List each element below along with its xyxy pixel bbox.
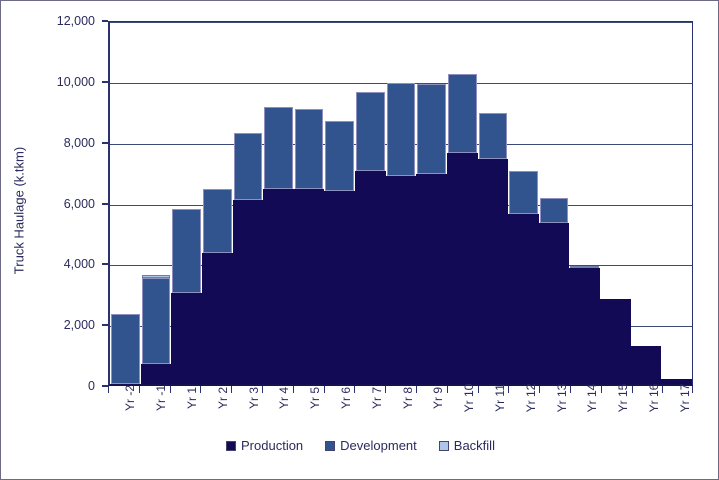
bar-segment-production[interactable] (263, 189, 294, 384)
x-axis-tick-mark (231, 386, 232, 393)
y-axis-tick-label: 0 (88, 379, 95, 393)
bar-segment-production[interactable] (447, 153, 478, 384)
bar-segment-development[interactable] (295, 109, 324, 190)
x-axis-tick-mark (539, 386, 540, 393)
x-axis-tick-label: Yr 10 (462, 384, 476, 413)
bar-segment-development[interactable] (417, 84, 446, 174)
x-axis-tick-mark (262, 386, 263, 393)
bar-segment-production[interactable] (631, 346, 662, 384)
bar-column[interactable] (202, 22, 233, 384)
bar-segment-development[interactable] (325, 121, 354, 191)
legend-swatch-icon (325, 441, 335, 451)
bar-column[interactable] (324, 22, 355, 384)
bar-segment-production[interactable] (539, 223, 570, 384)
x-axis-tick-label: Yr 1 (185, 387, 199, 409)
y-axis-tick-label: 8,000 (64, 136, 95, 150)
x-axis-tick-mark (508, 386, 509, 393)
legend-item[interactable]: Development (325, 438, 417, 453)
x-axis-tick-label: Yr 16 (647, 384, 661, 413)
bar-segment-production[interactable] (141, 364, 172, 384)
x-axis-tick-label: Yr 3 (247, 387, 261, 409)
bar-segment-production[interactable] (202, 253, 233, 384)
bar-column[interactable] (508, 22, 539, 384)
bar-segment-production[interactable] (600, 299, 631, 384)
x-axis-tick-label: Yr -1 (154, 385, 168, 411)
bar-segment-production[interactable] (233, 200, 264, 384)
bar-column[interactable] (171, 22, 202, 384)
bar-segment-backfill[interactable] (142, 275, 171, 278)
bar-column[interactable] (233, 22, 264, 384)
bar-column[interactable] (600, 22, 631, 384)
y-axis-tick-label: 2,000 (64, 318, 95, 332)
bar-segment-production[interactable] (416, 174, 447, 384)
x-axis-tick-label: Yr 11 (493, 384, 507, 412)
bar-segment-development[interactable] (142, 278, 171, 365)
bar-segment-development[interactable] (111, 314, 140, 384)
bar-segment-production[interactable] (478, 159, 509, 384)
bar-series-group (110, 22, 692, 384)
x-axis-tick-label: Yr 7 (370, 387, 384, 409)
x-axis-end-tick (692, 386, 693, 393)
bar-segment-development[interactable] (509, 171, 538, 214)
bar-segment-production[interactable] (508, 214, 539, 384)
bar-segment-development[interactable] (540, 198, 569, 222)
x-axis-tick-label: Yr 4 (277, 387, 291, 409)
legend-label: Backfill (454, 438, 495, 453)
y-axis-tick-label: 4,000 (64, 257, 95, 271)
x-axis-tick-label: Yr 2 (216, 387, 230, 409)
legend-label: Production (241, 438, 303, 453)
chart-container: 02,0004,0006,0008,00010,00012,000 Truck … (0, 0, 719, 480)
y-axis-tick-label: 6,000 (64, 197, 95, 211)
x-axis-tick-mark (139, 386, 140, 393)
y-axis-title: Truck Haulage (k.tkm) (12, 61, 27, 361)
bar-segment-production[interactable] (324, 191, 355, 384)
x-axis-tick-mark (416, 386, 417, 393)
x-axis-tick-mark (601, 386, 602, 393)
x-axis-tick-label: Yr 17 (678, 384, 692, 413)
x-axis-tick-label: Yr 9 (431, 387, 445, 409)
x-axis-tick-mark (478, 386, 479, 393)
legend-swatch-icon (226, 441, 236, 451)
x-axis-tick-mark (354, 386, 355, 393)
x-axis-tick-label: Yr 8 (401, 387, 415, 409)
bar-segment-development[interactable] (234, 133, 263, 200)
legend-swatch-icon (439, 441, 449, 451)
bar-segment-production[interactable] (294, 189, 325, 384)
x-axis-tick-label: Yr 6 (339, 387, 353, 409)
x-axis-tick-mark (632, 386, 633, 393)
bar-column[interactable] (539, 22, 570, 384)
x-axis-tick-mark (385, 386, 386, 393)
x-axis-tick-label: Yr 13 (555, 384, 569, 413)
bar-column[interactable] (631, 22, 662, 384)
x-axis-tick-mark (293, 386, 294, 393)
bar-column[interactable] (386, 22, 417, 384)
bar-column[interactable] (294, 22, 325, 384)
x-axis-tick-mark (200, 386, 201, 393)
bar-column[interactable] (569, 22, 600, 384)
bar-column[interactable] (416, 22, 447, 384)
bar-segment-backfill[interactable] (570, 266, 599, 268)
bar-segment-development[interactable] (448, 74, 477, 153)
bar-segment-production[interactable] (386, 176, 417, 384)
x-axis-tick-mark (324, 386, 325, 393)
y-axis-tick-label: 10,000 (57, 75, 95, 89)
bar-segment-development[interactable] (203, 189, 232, 253)
y-axis-tick-label: 12,000 (57, 14, 95, 28)
x-axis-tick-label: Yr 12 (524, 384, 538, 413)
bar-column[interactable] (661, 22, 692, 384)
x-axis-tick-label: Yr 15 (616, 384, 630, 413)
legend-item[interactable]: Production (226, 438, 303, 453)
x-axis-tick-label: Yr 5 (308, 387, 322, 409)
bar-column[interactable] (478, 22, 509, 384)
bar-column[interactable] (447, 22, 478, 384)
bar-segment-development[interactable] (356, 92, 385, 171)
x-axis-tick-label: Yr 14 (585, 384, 599, 413)
x-axis-tick-mark (662, 386, 663, 393)
x-axis-tick-label: Yr -2 (123, 385, 137, 411)
bar-segment-development[interactable] (264, 107, 293, 189)
bar-segment-production[interactable] (355, 171, 386, 384)
plot-area (108, 21, 693, 386)
bar-segment-production[interactable] (171, 293, 202, 384)
bar-column[interactable] (263, 22, 294, 384)
bar-column[interactable] (355, 22, 386, 384)
chart-legend: ProductionDevelopmentBackfill (1, 438, 719, 453)
x-axis-tick-mark (170, 386, 171, 393)
x-axis-tick-mark (108, 386, 109, 393)
x-axis-tick-mark (447, 386, 448, 393)
bar-segment-production[interactable] (569, 268, 600, 384)
bar-segment-development[interactable] (172, 209, 201, 293)
bar-column[interactable] (141, 22, 172, 384)
bar-segment-development[interactable] (479, 113, 508, 159)
bar-column[interactable] (110, 22, 141, 384)
legend-label: Development (340, 438, 417, 453)
x-axis-tick-mark (570, 386, 571, 393)
legend-item[interactable]: Backfill (439, 438, 495, 453)
bar-segment-development[interactable] (387, 83, 416, 176)
